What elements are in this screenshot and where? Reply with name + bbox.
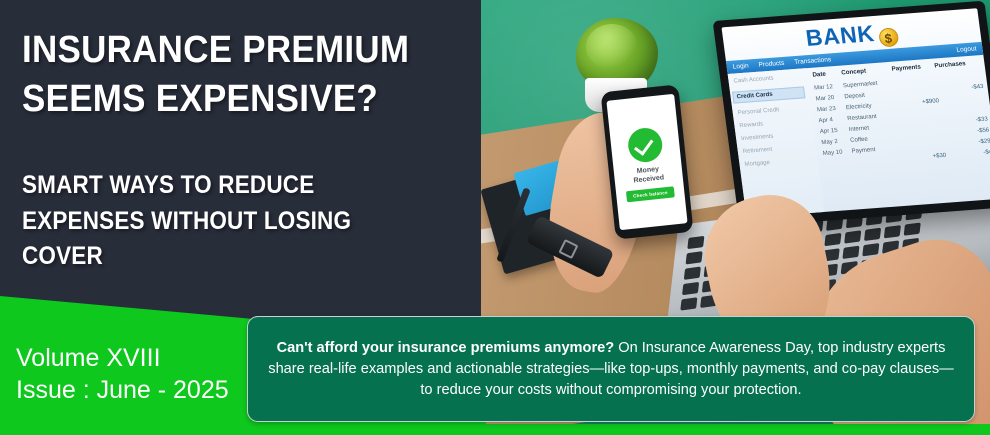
sidebar-item-personal-credit[interactable]: Personal Credit	[737, 105, 807, 116]
bank-body: Cash Accounts Credit Cards Personal Cred…	[728, 55, 990, 218]
newsletter-banner: BANK$ Login Products Transactions Logout…	[0, 0, 990, 435]
caption-text: Can't afford your insurance premiums any…	[264, 338, 958, 401]
phone-status-subtitle: Received	[633, 174, 664, 184]
sidebar-item-mortgage[interactable]: Mortgage	[744, 157, 814, 168]
page-title: INSURANCE PREMIUM SEEMS EXPENSIVE?	[22, 26, 427, 123]
sidebar-item-retirement[interactable]: Retirement	[743, 144, 813, 155]
phone-status-text: Money Received	[632, 165, 664, 186]
dollar-coin-icon: $	[878, 27, 899, 47]
laptop-screen: BANK$ Login Products Transactions Logout…	[713, 1, 990, 228]
caption-lead: Can't afford your insurance premiums any…	[277, 340, 615, 356]
check-balance-button[interactable]: Check balance	[626, 187, 676, 203]
bank-nav-transactions[interactable]: Transactions	[794, 56, 832, 66]
cell-date	[824, 157, 854, 170]
sidebar-item-cash-accounts[interactable]: Cash Accounts	[733, 73, 803, 84]
sidebar-item-credit-cards[interactable]: Credit Cards	[732, 86, 805, 103]
transactions-table: Date Concept Payments Purchases Mar 12Su…	[806, 55, 990, 217]
sidebar-item-rewards[interactable]: Rewards	[739, 118, 809, 129]
transactions-body: Mar 12SupermarketMar 20Deposit-$43Mar 23…	[813, 70, 990, 170]
check-circle-icon	[627, 126, 664, 163]
bank-logo-text: BANK	[804, 20, 876, 51]
bank-nav-login[interactable]: Login	[732, 62, 749, 70]
cell-purchases: -$4	[945, 146, 990, 160]
caption-box: Can't afford your insurance premiums any…	[247, 316, 975, 422]
phone-status-title: Money	[636, 166, 659, 175]
cell-concept	[852, 153, 904, 168]
smartphone: Money Received Check balance	[600, 84, 693, 239]
sidebar-item-investments[interactable]: Investments	[741, 131, 811, 142]
bottom-green-strip	[0, 424, 990, 435]
phone-screen: Money Received Check balance	[606, 94, 687, 230]
bank-app: BANK$ Login Products Transactions Logout…	[721, 8, 990, 218]
page-subtitle: SMART WAYS TO REDUCE EXPENSES WITHOUT LO…	[22, 168, 427, 275]
bank-nav-products[interactable]: Products	[758, 60, 785, 69]
cell-payments: +$30	[903, 150, 947, 164]
bank-nav-logout[interactable]: Logout	[956, 45, 977, 53]
